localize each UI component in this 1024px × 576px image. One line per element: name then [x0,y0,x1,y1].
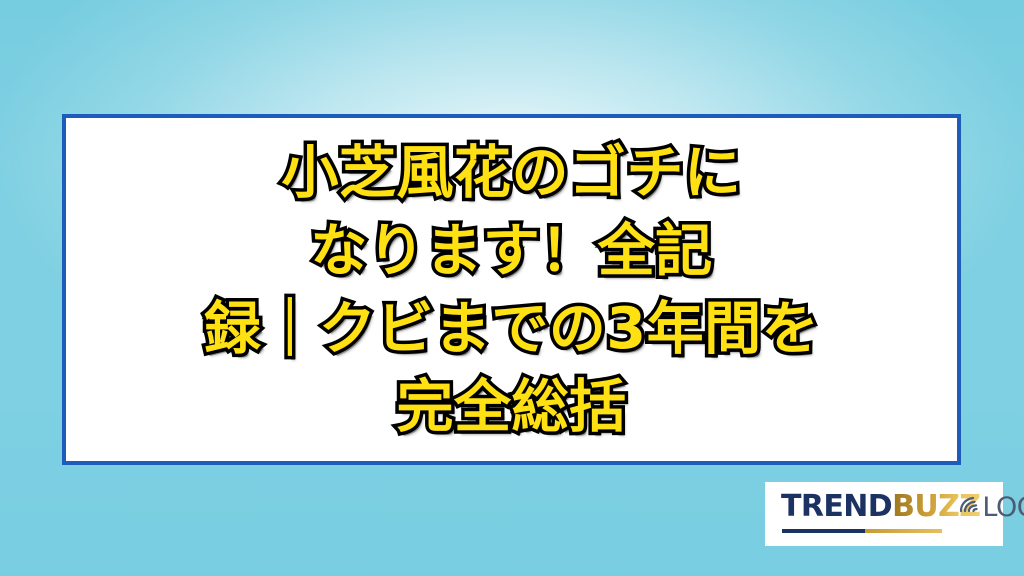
title-card: 小芝風花のゴチに なります！全記 録｜クビまでの3年間を 完全総括 [62,114,961,465]
thumbnail-canvas: 小芝風花のゴチに なります！全記 録｜クビまでの3年間を 完全総括 TREND … [0,0,1024,576]
headline-line-1: 小芝風花のゴチに [282,134,742,212]
logo-wordmark: TREND BUZZ LOG [781,492,1024,522]
signal-waves-icon [955,487,985,513]
headline-line-3: 録｜クビまでの3年間を [204,290,819,368]
headline-block: 小芝風花のゴチに なります！全記 録｜クビまでの3年間を 完全総括 [66,134,957,446]
logo-inner: TREND BUZZ LOG [781,491,987,537]
logo-text-trend: TREND [781,492,892,522]
logo-underline-bar [782,529,942,533]
logo-badge: TREND BUZZ LOG [765,482,1003,546]
logo-text-log: LOG [982,494,1024,521]
headline-line-4: 完全総括 [397,368,627,446]
headline-line-2: なります！全記 [310,212,713,290]
